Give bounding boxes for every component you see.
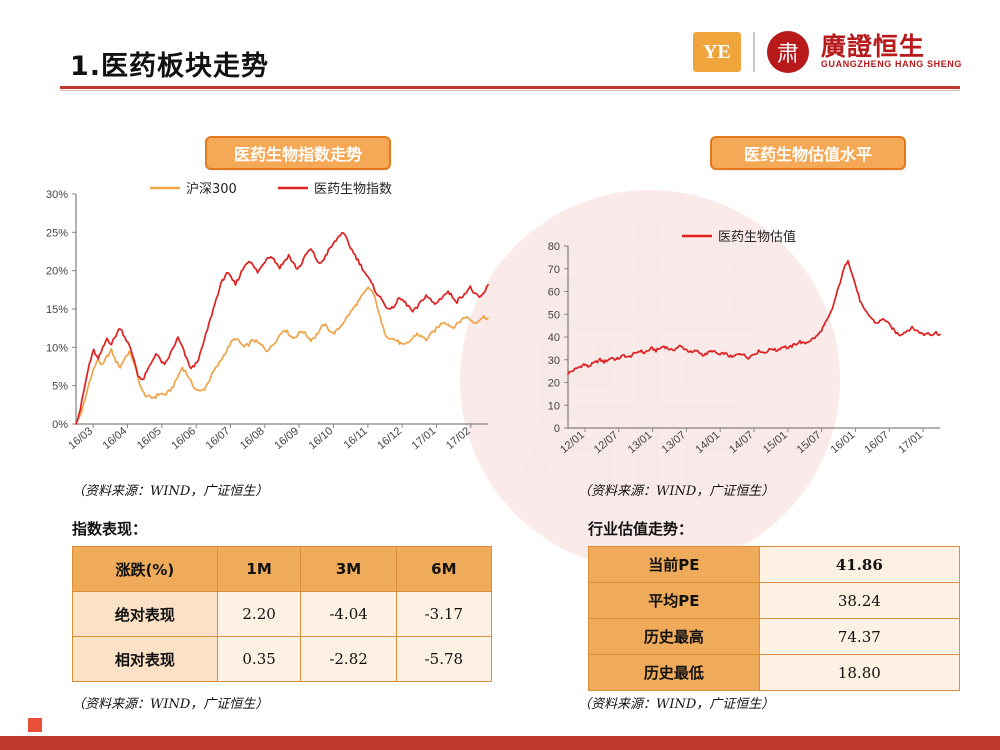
y-tick-label: 30% [46,189,68,201]
y-tick-label: 25% [46,227,68,239]
x-tick-label: 14/07 [727,429,756,456]
page-title: 1.医药板块走势 [70,44,269,83]
table-row: 平均PE 38.24 [589,583,960,619]
y-tick-label: 60 [548,287,560,299]
footer-bar [0,736,1000,750]
row-label: 绝对表现 [73,592,218,637]
y-tick-label: 5% [52,381,68,393]
table-cell: -4.04 [301,592,396,637]
x-tick-label: 14/01 [693,429,722,456]
y-tick-label: 10 [548,400,560,412]
brand-logo: YE 肃 廣證恒生 GUANGZHENG HANG SHENG [693,28,962,76]
x-tick-label: 12/01 [558,429,587,456]
left-chart-title: 医药生物指数走势 [205,136,391,170]
table-cell: 38.24 [759,583,959,619]
logo-mark-icon: YE [693,32,741,72]
x-tick-label: 13/01 [626,429,655,456]
table-cell: 2.20 [217,592,301,637]
header-rule [60,86,960,89]
left-table-source: （资料来源：WIND，广证恒生） [72,693,268,712]
table-header-cell: 3M [301,547,396,592]
logo-text: 廣證恒生 GUANGZHENG HANG SHENG [821,34,962,70]
table-row: 历史最高 74.37 [589,619,960,655]
valuation-trend-chart: 0102030405060708012/0112/0713/0113/0714/… [530,220,970,472]
row-label: 历史最低 [589,655,760,691]
table-header-cell: 涨跌(%) [73,547,218,592]
index-trend-chart: 0%5%10%15%20%25%30%16/0316/0416/0516/061… [30,172,500,472]
row-label: 平均PE [589,583,760,619]
x-tick-label: 16/06 [169,425,198,452]
y-tick-label: 50 [548,309,560,321]
x-tick-label: 16/03 [66,425,95,452]
table-header-cell: 6M [396,547,491,592]
x-tick-label: 15/07 [795,429,824,456]
table-cell: 41.86 [759,547,959,583]
index-performance-table: 涨跌(%) 1M 3M 6M 绝对表现 2.20 -4.04 -3.17 相对表… [72,546,492,682]
x-tick-label: 16/07 [862,429,891,456]
y-tick-label: 10% [46,342,68,354]
table-cell: 74.37 [759,619,959,655]
table-cell: -5.78 [396,637,491,682]
page-header: 1.医药板块走势 YE 肃 廣證恒生 GUANGZHENG HANG SHENG [0,0,1000,96]
x-tick-label: 13/07 [659,429,688,456]
table-row: 相对表现 0.35 -2.82 -5.78 [73,637,492,682]
row-label: 当前PE [589,547,760,583]
table-cell: -3.17 [396,592,491,637]
table-cell: -2.82 [301,637,396,682]
x-tick-label: 16/10 [307,425,336,452]
logo-company-en: GUANGZHENG HANG SHENG [821,60,962,69]
table-cell: 18.80 [759,655,959,691]
x-tick-label: 16/11 [342,425,370,451]
y-tick-label: 40 [548,332,560,344]
series-line-1 [76,287,488,424]
valuation-table: 当前PE 41.86 平均PE 38.24 历史最高 74.37 历史最低 18… [588,546,960,691]
x-tick-label: 16/05 [135,425,164,452]
left-chart-source: （资料来源：WIND，广证恒生） [72,480,268,499]
legend-label-1: 医药生物估值 [718,229,796,245]
x-tick-label: 16/12 [375,425,404,452]
y-tick-label: 0 [554,423,560,435]
legend-label-2: 医药生物指数 [314,182,392,197]
x-tick-label: 12/07 [592,429,621,456]
y-tick-label: 80 [548,241,560,253]
y-tick-label: 70 [548,264,560,276]
right-chart-source: （资料来源：WIND，广证恒生） [578,480,774,499]
logo-divider [753,32,755,72]
x-tick-label: 15/01 [761,429,790,456]
right-table-source: （资料来源：WIND，广证恒生） [578,693,774,712]
valuation-trend-svg: 0102030405060708012/0112/0713/0113/0714/… [530,220,970,472]
table-cell: 0.35 [217,637,301,682]
y-tick-label: 30 [548,355,560,367]
footer-accent-square [28,718,42,732]
y-tick-label: 20 [548,378,560,390]
table-header-row: 涨跌(%) 1M 3M 6M [73,547,492,592]
right-table-caption: 行业估值走势： [588,518,693,539]
table-row: 当前PE 41.86 [589,547,960,583]
row-label: 相对表现 [73,637,218,682]
logo-company-cn: 廣證恒生 [821,34,962,60]
series-line-1 [568,261,940,375]
x-tick-label: 16/07 [204,425,233,452]
index-trend-svg: 0%5%10%15%20%25%30%16/0316/0416/0516/061… [30,172,500,472]
x-tick-label: 16/08 [238,425,267,452]
x-tick-label: 16/04 [101,425,130,452]
left-table-caption: 指数表现： [72,518,147,539]
y-tick-label: 20% [46,266,68,278]
table-header-cell: 1M [217,547,301,592]
header-rule-thin [60,90,960,91]
x-tick-label: 17/02 [444,425,473,452]
right-chart-title: 医药生物估值水平 [710,136,906,170]
x-tick-label: 16/01 [829,429,858,456]
logo-seal-icon: 肃 [767,31,809,73]
y-tick-label: 15% [46,304,68,316]
series-line-2 [76,233,488,424]
x-tick-label: 17/01 [410,425,439,452]
table-row: 绝对表现 2.20 -4.04 -3.17 [73,592,492,637]
x-tick-label: 16/09 [272,425,301,452]
table-row: 历史最低 18.80 [589,655,960,691]
y-tick-label: 0% [52,419,68,431]
legend-label-1: 沪深300 [186,181,237,197]
x-tick-label: 17/01 [896,429,925,456]
row-label: 历史最高 [589,619,760,655]
